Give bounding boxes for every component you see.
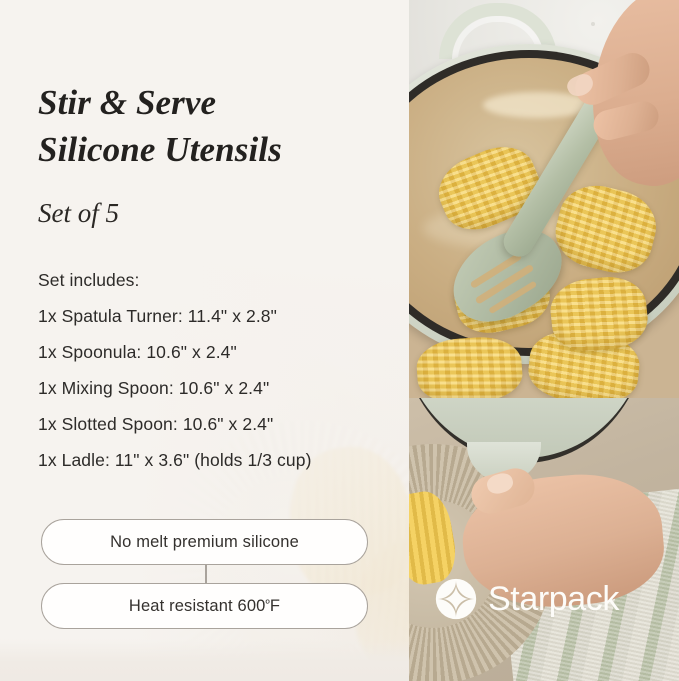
spec-item-spoonula: 1x Spoonula: 10.6" x 2.4"	[38, 334, 398, 370]
heat-resistant-suffix: F	[270, 597, 280, 615]
product-infographic: Stir & Serve Silicone Utensils Set of 5 …	[0, 0, 679, 681]
degree-symbol: º	[266, 598, 270, 610]
lower-photo-scene	[409, 398, 679, 681]
feature-badge-connector	[205, 565, 206, 583]
spec-item-ladle: 1x Ladle: 11" x 3.6" (holds 1/3 cup)	[38, 442, 398, 478]
product-title-line-2: Silicone Utensils	[38, 126, 388, 173]
feature-badges: No melt premium silicone Heat resistant …	[41, 519, 371, 629]
spec-item-spatula-turner: 1x Spatula Turner: 11.4" x 2.8"	[38, 298, 398, 334]
product-title-line-1: Stir & Serve	[38, 83, 216, 122]
brand-lockup: Starpack	[435, 578, 619, 620]
feature-badge-heat-resistant: Heat resistant 600ºF	[41, 583, 368, 629]
spec-item-mixing-spoon: 1x Mixing Spoon: 10.6" x 2.4"	[38, 370, 398, 406]
product-subtitle: Set of 5	[38, 198, 119, 229]
corn-cob-5	[415, 334, 524, 405]
brand-name: Starpack	[488, 582, 619, 616]
feature-badge-no-melt-label: No melt premium silicone	[110, 533, 299, 552]
info-panel: Stir & Serve Silicone Utensils Set of 5 …	[0, 0, 409, 681]
spec-item-slotted-spoon: 1x Slotted Spoon: 10.6" x 2.4"	[38, 406, 398, 442]
info-content: Stir & Serve Silicone Utensils Set of 5 …	[0, 0, 409, 681]
feature-badge-heat-resistant-label: Heat resistant 600ºF	[129, 597, 280, 616]
feature-badge-no-melt: No melt premium silicone	[41, 519, 368, 565]
product-title: Stir & Serve Silicone Utensils	[38, 79, 388, 173]
spec-list-heading: Set includes:	[38, 262, 398, 298]
heat-resistant-prefix: Heat resistant 600	[129, 597, 266, 615]
starpack-logo-icon	[435, 578, 477, 620]
spec-list: Set includes: 1x Spatula Turner: 11.4" x…	[38, 262, 398, 478]
